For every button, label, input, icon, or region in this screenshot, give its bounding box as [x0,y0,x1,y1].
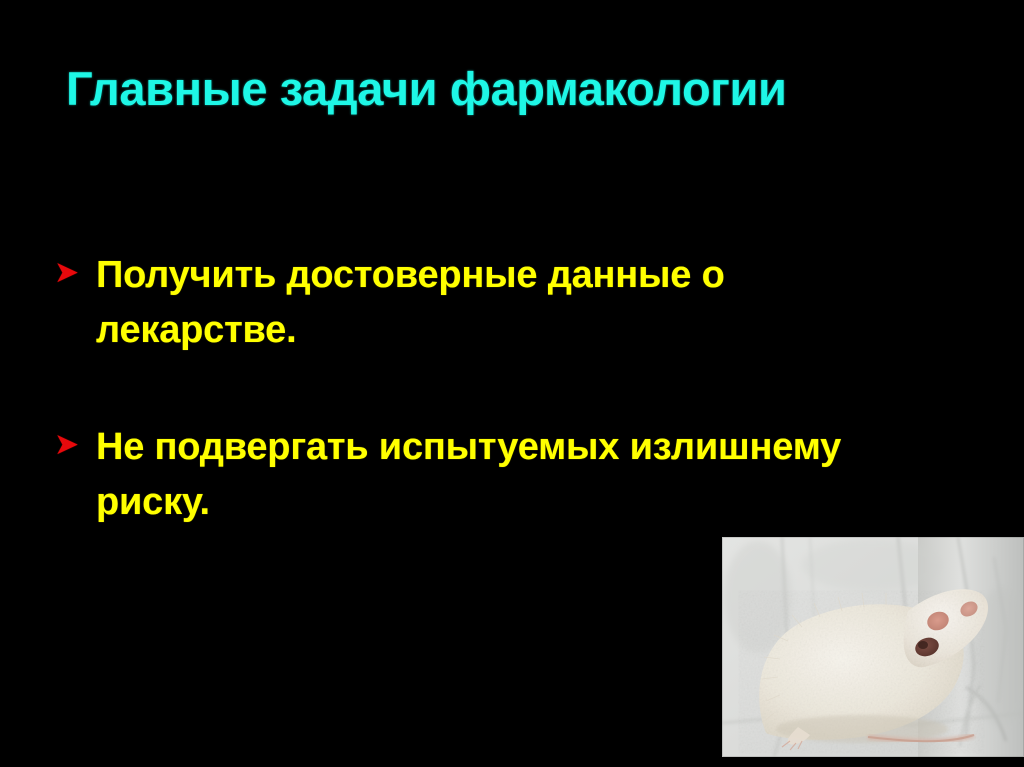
bullet-item-2-text: Не подвергать испытуемых излишнему риску… [96,420,932,530]
bullet-item-2: ➤ Не подвергать испытуемых излишнему рис… [52,420,932,530]
slide-title: Главные задачи фармакологии [66,62,966,116]
arrow-bullet-icon: ➤ [54,258,84,288]
white-laboratory-rat-photo [722,537,1024,757]
bullet-item-1: ➤ Получить достоверные данные о лекарств… [52,248,932,358]
rat-photo-graphic [722,537,1024,757]
bullet-item-1-text: Получить достоверные данные о лекарстве. [96,248,932,358]
presentation-slide: Главные задачи фармакологии ➤ Получить д… [0,0,1024,767]
bullet-list: ➤ Получить достоверные данные о лекарств… [52,248,932,530]
arrow-bullet-icon: ➤ [54,430,84,460]
